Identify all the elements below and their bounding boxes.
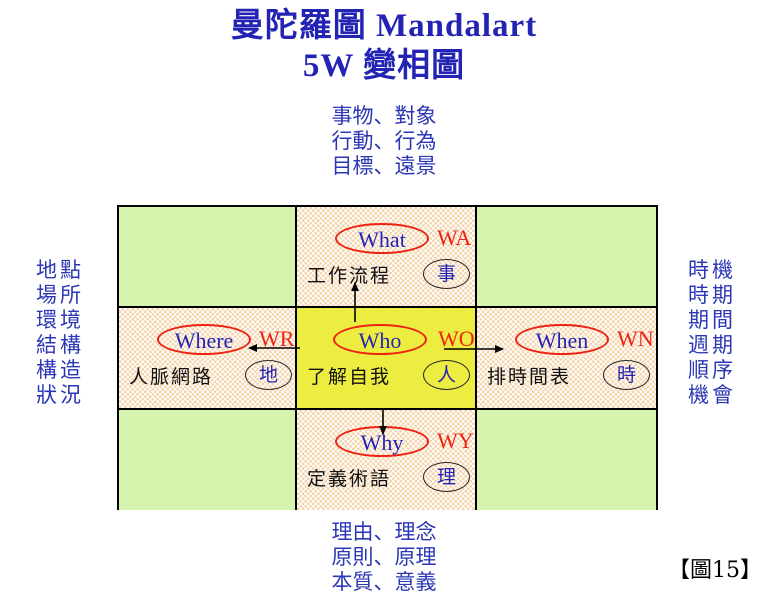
where-tag: 地 xyxy=(245,360,292,390)
annotation-bottom: 理由、理念 原則、原理 本質、意義 xyxy=(0,520,768,595)
what-phrase: 工作流程 xyxy=(307,264,391,288)
annotation-top: 事物、對象 行動、行為 目標、遠景 xyxy=(0,104,768,179)
what-tag: 事 xyxy=(423,259,470,289)
who-code: WO xyxy=(438,324,475,353)
page-title-line-1: 曼陀羅圖 Mandalart xyxy=(0,6,768,46)
who-label: Who xyxy=(333,324,427,355)
what-code: WA xyxy=(437,223,471,252)
why-phrase: 定義術語 xyxy=(307,467,391,491)
why-code: WY xyxy=(437,426,474,455)
where-code: WR xyxy=(259,324,294,353)
grid-cell-top-left[interactable] xyxy=(119,207,297,308)
why-tag: 理 xyxy=(423,462,470,492)
who-phrase: 了解自我 xyxy=(307,365,391,389)
figure-caption: 【圖15】 xyxy=(668,557,762,585)
grid-cell-why[interactable]: Why WY 定義術語 理 xyxy=(297,410,477,510)
annotation-left: 地點 場所 環境 結構 構造 狀況 xyxy=(8,258,112,408)
grid-cell-when[interactable]: When WN 排時間表 時 xyxy=(477,308,656,410)
grid-cell-who[interactable]: Who WO 了解自我 人 xyxy=(297,308,477,410)
grid-cell-top-right[interactable] xyxy=(477,207,656,308)
why-label: Why xyxy=(335,426,429,457)
where-label: Where xyxy=(157,324,251,355)
mandalart-grid: What WA 工作流程 事 Where WR 人脈網路 地 Who WO 了解… xyxy=(117,205,658,510)
annotation-right: 時機 時期 期間 週期 順序 機會 xyxy=(660,258,764,408)
where-phrase: 人脈網路 xyxy=(129,365,213,389)
when-label: When xyxy=(515,324,609,355)
page-title-line-2: 5W 變相圖 xyxy=(0,46,768,86)
grid-cell-bottom-right[interactable] xyxy=(477,410,656,510)
when-phrase: 排時間表 xyxy=(487,365,571,389)
when-code: WN xyxy=(617,324,654,353)
title-block: 曼陀羅圖 Mandalart 5W 變相圖 xyxy=(0,6,768,86)
grid-cell-what[interactable]: What WA 工作流程 事 xyxy=(297,207,477,308)
grid-cell-where[interactable]: Where WR 人脈網路 地 xyxy=(119,308,297,410)
grid-cell-bottom-left[interactable] xyxy=(119,410,297,510)
what-label: What xyxy=(335,223,429,254)
who-tag: 人 xyxy=(423,360,470,390)
when-tag: 時 xyxy=(603,360,650,390)
